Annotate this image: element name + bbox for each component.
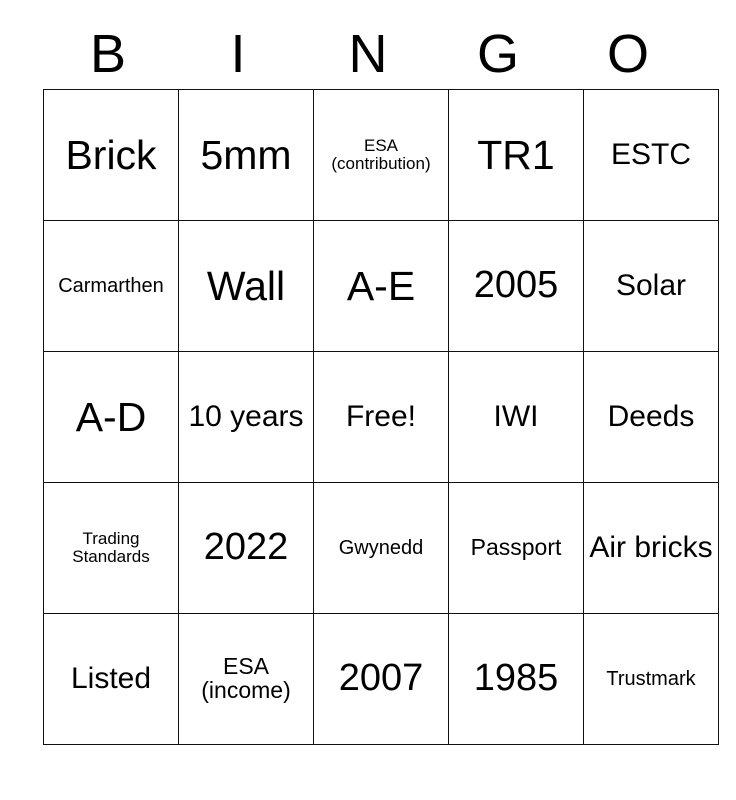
bingo-header-letter-n: N [303, 18, 433, 89]
bingo-cell-label: Deeds [586, 401, 716, 432]
bingo-cell-label: 2022 [181, 528, 311, 568]
bingo-cell[interactable]: Passport [449, 483, 584, 614]
bingo-cell-label: ESA (contribution) [316, 137, 446, 172]
bingo-row: Trading Standards 2022 Gwynedd Passport … [44, 483, 719, 614]
bingo-cell[interactable]: Wall [179, 221, 314, 352]
bingo-cell-label: ESA (income) [181, 655, 311, 703]
bingo-row: Carmarthen Wall A-E 2005 Solar [44, 221, 719, 352]
bingo-cell[interactable]: Gwynedd [314, 483, 449, 614]
bingo-grid: Brick 5mm ESA (contribution) TR1 ESTC Ca… [43, 89, 719, 745]
bingo-cell[interactable]: A-D [44, 352, 179, 483]
bingo-cell-label: A-E [316, 265, 446, 308]
bingo-row: A-D 10 years Free! IWI Deeds [44, 352, 719, 483]
bingo-cell[interactable]: Brick [44, 90, 179, 221]
bingo-header-letter-g: G [433, 18, 563, 89]
bingo-cell-label: Gwynedd [316, 538, 446, 559]
bingo-cell[interactable]: IWI [449, 352, 584, 483]
bingo-cell[interactable]: TR1 [449, 90, 584, 221]
bingo-cell-label: Air bricks [586, 532, 716, 563]
bingo-cell[interactable]: Trading Standards [44, 483, 179, 614]
bingo-cell-label: IWI [451, 401, 581, 432]
bingo-cell-label: Listed [46, 663, 176, 694]
bingo-cell[interactable]: 2005 [449, 221, 584, 352]
bingo-cell[interactable]: Deeds [584, 352, 719, 483]
bingo-cell-label: Carmarthen [46, 276, 176, 297]
bingo-cell[interactable]: ESTC [584, 90, 719, 221]
bingo-cell[interactable]: 1985 [449, 614, 584, 745]
bingo-header-letter-i: I [173, 18, 303, 89]
bingo-cell[interactable]: Solar [584, 221, 719, 352]
bingo-cell[interactable]: 2022 [179, 483, 314, 614]
bingo-cell[interactable]: 10 years [179, 352, 314, 483]
bingo-cell-label: Passport [451, 536, 581, 560]
bingo-cell[interactable]: Air bricks [584, 483, 719, 614]
bingo-row: Listed ESA (income) 2007 1985 Trustmark [44, 614, 719, 745]
bingo-cell-label: 10 years [181, 401, 311, 432]
bingo-cell-label: TR1 [451, 134, 581, 177]
bingo-cell-label: Solar [586, 270, 716, 301]
bingo-cell[interactable]: Carmarthen [44, 221, 179, 352]
bingo-cell-label: ESTC [586, 139, 716, 170]
bingo-cell-label: A-D [46, 396, 176, 439]
bingo-header-row: B I N G O [43, 18, 693, 89]
bingo-cell[interactable]: ESA (income) [179, 614, 314, 745]
bingo-cell-label: Trading Standards [46, 530, 176, 565]
bingo-cell[interactable]: ESA (contribution) [314, 90, 449, 221]
bingo-cell-label-free: Free! [316, 401, 446, 432]
bingo-header-letter-b: B [43, 18, 173, 89]
bingo-cell[interactable]: Trustmark [584, 614, 719, 745]
bingo-cell[interactable]: 5mm [179, 90, 314, 221]
bingo-cell[interactable]: 2007 [314, 614, 449, 745]
bingo-cell-label: Trustmark [586, 669, 716, 690]
bingo-card: B I N G O Brick 5mm ESA (contribution) T… [43, 18, 693, 745]
bingo-cell[interactable]: Listed [44, 614, 179, 745]
bingo-cell-label: Brick [46, 134, 176, 177]
bingo-cell-label: 5mm [181, 134, 311, 177]
bingo-cell[interactable]: A-E [314, 221, 449, 352]
bingo-cell-label: 2005 [451, 266, 581, 306]
bingo-header-letter-o: O [563, 18, 693, 89]
bingo-cell-label: Wall [181, 265, 311, 308]
bingo-cell-label: 1985 [451, 659, 581, 699]
bingo-cell-label: 2007 [316, 659, 446, 699]
bingo-row: Brick 5mm ESA (contribution) TR1 ESTC [44, 90, 719, 221]
bingo-cell-free[interactable]: Free! [314, 352, 449, 483]
